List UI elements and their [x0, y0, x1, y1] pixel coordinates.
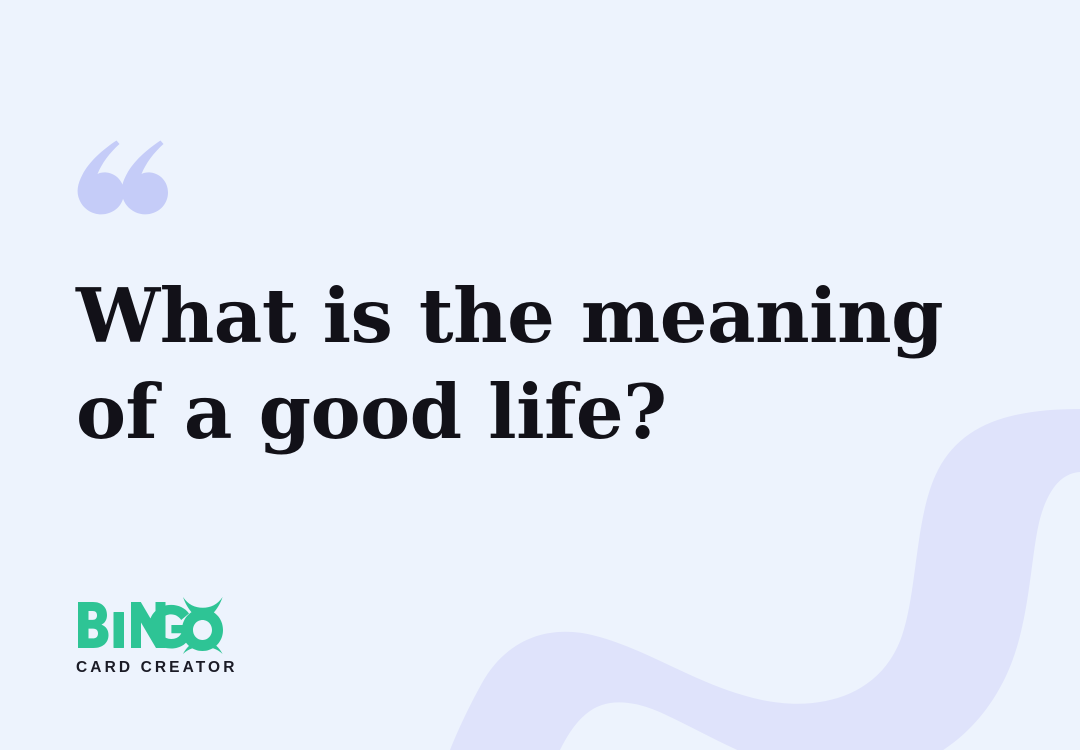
quote-glyph-left	[78, 141, 124, 215]
opening-quote-mark	[76, 138, 168, 216]
quote-line-2: good life?	[259, 368, 667, 456]
brand-logo[interactable]: CARD CREATOR	[76, 596, 238, 677]
logo-letter-b	[78, 602, 109, 648]
wave-ribbon-path	[450, 409, 1080, 750]
quote-glyph-right	[122, 141, 168, 215]
bingo-wordmark-icon	[76, 596, 224, 654]
quote-card: What is the meaning of a good life?	[0, 0, 1080, 750]
logo-letter-i	[114, 612, 125, 648]
logo-tagline: CARD CREATOR	[76, 659, 238, 677]
quote-question: What is the meaning of a good life?	[76, 268, 1006, 460]
